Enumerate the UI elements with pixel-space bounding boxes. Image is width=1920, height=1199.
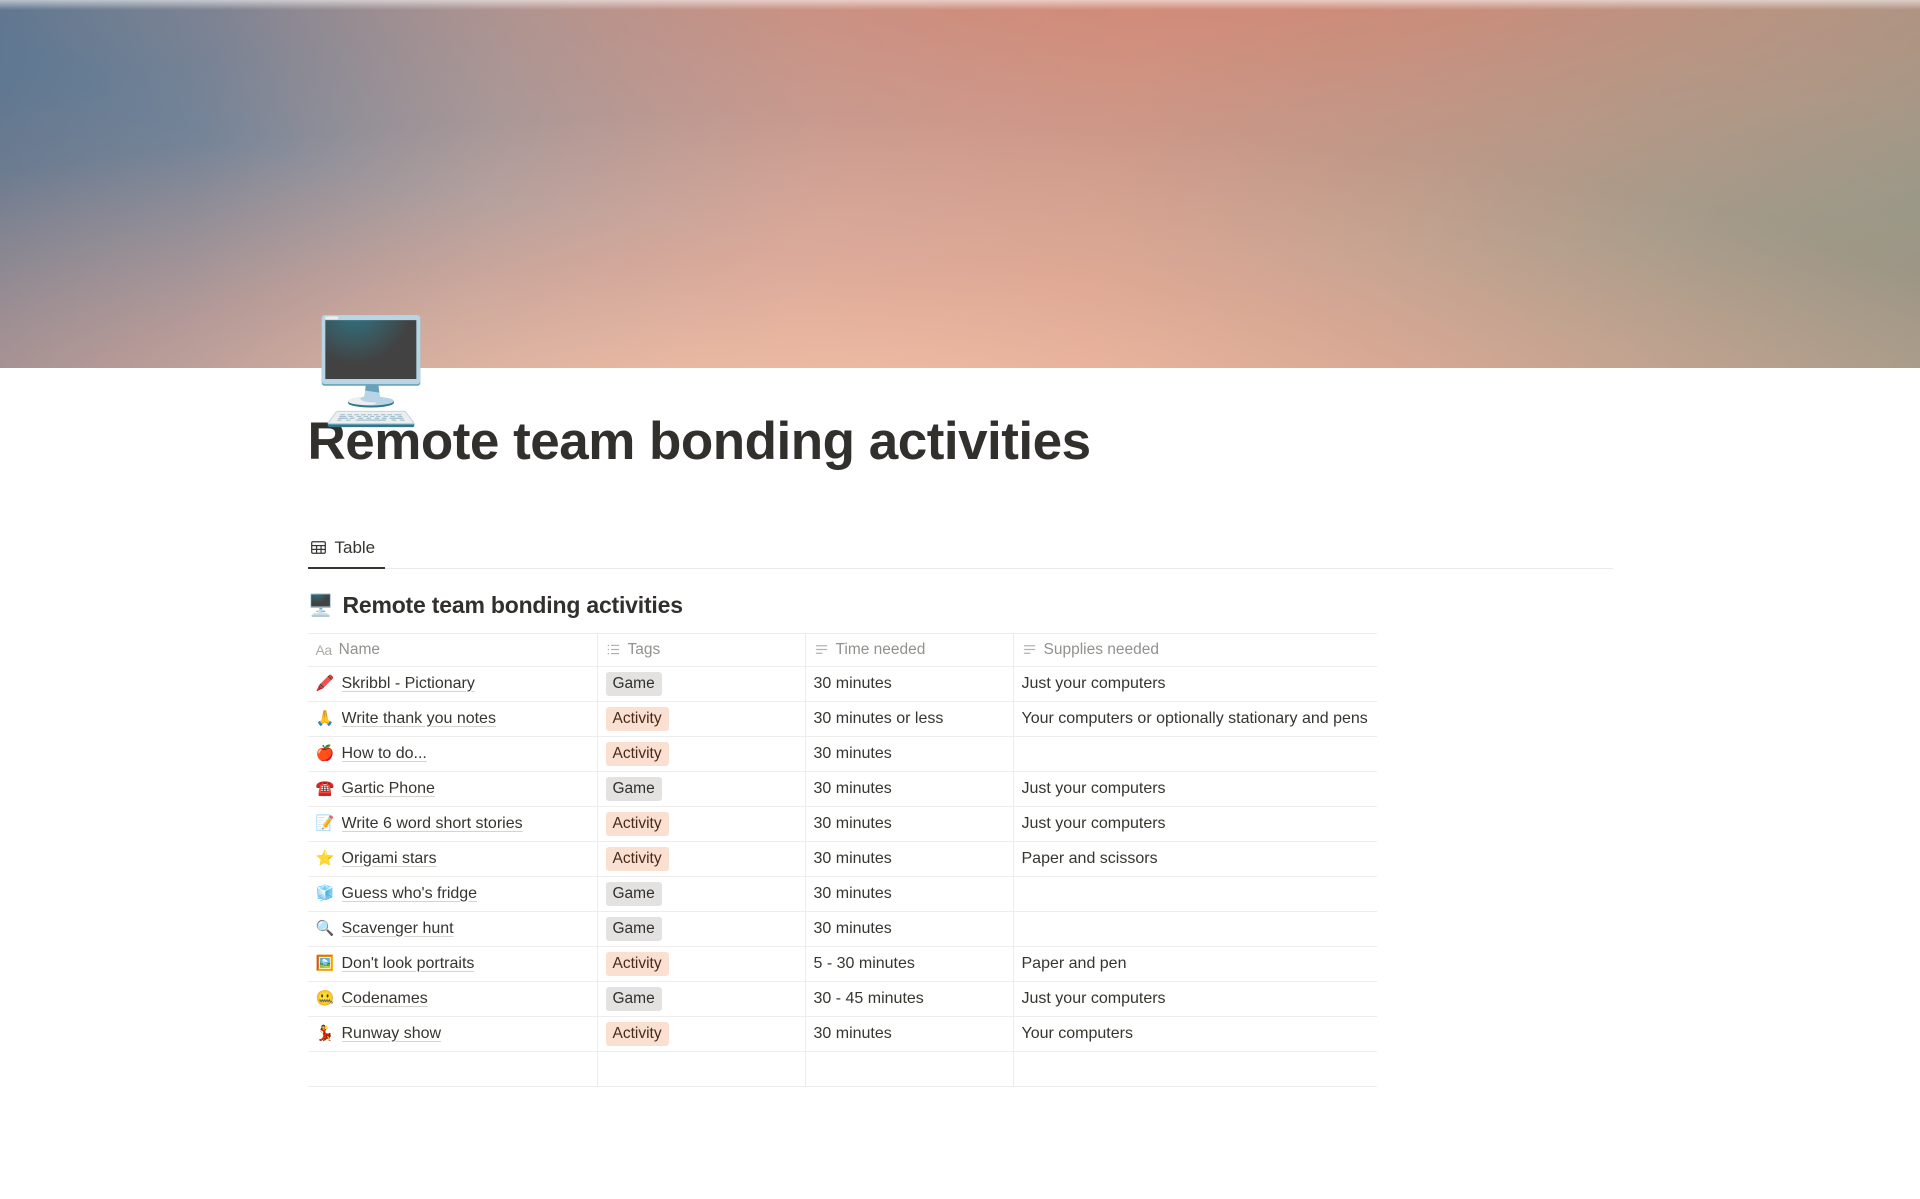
tag-badge: Activity <box>606 812 669 836</box>
desktop-computer-icon: 🖥️ <box>308 595 334 616</box>
cover-top-fade <box>0 0 1920 10</box>
cell-empty[interactable] <box>598 1052 806 1086</box>
cell-tags[interactable]: Game <box>598 982 806 1016</box>
star-emoji: ⭐ <box>316 851 334 866</box>
cell-name[interactable]: 💃Runway show <box>308 1017 598 1051</box>
cell-tags[interactable]: Activity <box>598 842 806 876</box>
table-row[interactable]: 🙏Write thank you notesActivity30 minutes… <box>308 702 1377 737</box>
row-title-link[interactable]: Scavenger hunt <box>342 920 454 938</box>
column-header-supplies-label: Supplies needed <box>1044 641 1160 659</box>
cell-name[interactable]: 🔍Scavenger hunt <box>308 912 598 946</box>
cell-name[interactable]: 🖼️Don't look portraits <box>308 947 598 981</box>
cell-supplies-needed[interactable]: Just your computers <box>1014 667 1377 701</box>
cell-time-needed[interactable]: 30 minutes <box>806 912 1014 946</box>
telephone-emoji: ☎️ <box>316 781 334 796</box>
row-title-link[interactable]: Origami stars <box>342 850 437 868</box>
time-needed-text: 30 minutes <box>814 675 892 693</box>
column-header-time-needed[interactable]: Time needed <box>806 634 1014 666</box>
cell-supplies-needed[interactable]: Your computers or optionally stationary … <box>1014 702 1377 736</box>
cell-tags[interactable]: Game <box>598 877 806 911</box>
cell-tags[interactable]: Activity <box>598 702 806 736</box>
tag-badge: Activity <box>606 952 669 976</box>
row-title-link[interactable]: Guess who's fridge <box>342 885 478 903</box>
row-title-link[interactable]: Runway show <box>342 1025 442 1043</box>
dancer-emoji: 💃 <box>316 1026 334 1041</box>
tag-badge: Game <box>606 987 662 1011</box>
row-title-link[interactable]: Don't look portraits <box>342 955 475 973</box>
supplies-needed-text: Your computers <box>1022 1025 1133 1043</box>
page-cover-image <box>0 0 1920 368</box>
tag-badge: Activity <box>606 847 669 871</box>
cell-time-needed[interactable]: 30 - 45 minutes <box>806 982 1014 1016</box>
cell-supplies-needed[interactable] <box>1014 912 1377 946</box>
time-needed-text: 30 minutes <box>814 745 892 763</box>
text-lines-icon <box>1022 642 1037 657</box>
cell-tags[interactable]: Activity <box>598 1017 806 1051</box>
cell-time-needed[interactable]: 30 minutes or less <box>806 702 1014 736</box>
row-title-link[interactable]: Write thank you notes <box>342 710 496 728</box>
cell-name[interactable]: 🍎How to do... <box>308 737 598 771</box>
tag-badge: Game <box>606 672 662 696</box>
cell-name[interactable]: ☎️Gartic Phone <box>308 772 598 806</box>
cell-supplies-needed[interactable]: Paper and scissors <box>1014 842 1377 876</box>
time-needed-text: 30 minutes or less <box>814 710 944 728</box>
magnifying-glass-emoji: 🔍 <box>316 921 334 936</box>
database-table: Aa Name Tags <box>308 633 1377 1087</box>
cell-supplies-needed[interactable]: Just your computers <box>1014 807 1377 841</box>
red-apple-emoji: 🍎 <box>316 746 334 761</box>
column-header-name[interactable]: Aa Name <box>308 634 598 666</box>
cell-time-needed[interactable]: 5 - 30 minutes <box>806 947 1014 981</box>
row-title-link[interactable]: Gartic Phone <box>342 780 435 798</box>
cell-supplies-needed[interactable]: Just your computers <box>1014 772 1377 806</box>
tag-badge: Game <box>606 917 662 941</box>
tag-badge: Activity <box>606 1022 669 1046</box>
text-lines-icon <box>814 642 829 657</box>
memo-emoji: 📝 <box>316 816 334 831</box>
time-needed-text: 30 minutes <box>814 780 892 798</box>
time-needed-text: 30 minutes <box>814 850 892 868</box>
crayon-emoji: 🖍️ <box>316 676 334 691</box>
text-aa-icon: Aa <box>316 642 332 658</box>
column-header-tags-label: Tags <box>628 641 661 659</box>
table-row[interactable]: 💃Runway showActivity30 minutesYour compu… <box>308 1017 1377 1052</box>
zipper-mouth-face-emoji: 🤐 <box>316 991 334 1006</box>
cell-time-needed[interactable]: 30 minutes <box>806 667 1014 701</box>
column-header-time-label: Time needed <box>836 641 926 659</box>
row-title-link[interactable]: Skribbl - Pictionary <box>342 675 475 693</box>
table-row[interactable]: 🍎How to do...Activity30 minutes <box>308 737 1377 772</box>
tab-table-label: Table <box>335 538 376 558</box>
tag-badge: Game <box>606 777 662 801</box>
cell-name[interactable]: 🖍️Skribbl - Pictionary <box>308 667 598 701</box>
multi-select-icon <box>606 642 621 657</box>
cell-name[interactable]: 🙏Write thank you notes <box>308 702 598 736</box>
supplies-needed-text: Your computers or optionally stationary … <box>1022 710 1368 728</box>
supplies-needed-text: Just your computers <box>1022 780 1166 798</box>
folded-hands-emoji: 🙏 <box>316 711 334 726</box>
table-row[interactable]: 📝Write 6 word short storiesActivity30 mi… <box>308 807 1377 842</box>
table-row-partial[interactable] <box>308 1052 1377 1087</box>
time-needed-text: 30 - 45 minutes <box>814 990 924 1008</box>
database-title[interactable]: 🖥️ Remote team bonding activities <box>308 592 1613 619</box>
cell-tags[interactable]: Activity <box>598 947 806 981</box>
table-body: 🖍️Skribbl - PictionaryGame30 minutesJust… <box>308 667 1377 1087</box>
supplies-needed-text: Just your computers <box>1022 815 1166 833</box>
table-row[interactable]: 🖼️Don't look portraitsActivity5 - 30 min… <box>308 947 1377 982</box>
table-row[interactable]: ☎️Gartic PhoneGame30 minutesJust your co… <box>308 772 1377 807</box>
tag-badge: Activity <box>606 707 669 731</box>
table-row[interactable]: 🔍Scavenger huntGame30 minutes <box>308 912 1377 947</box>
page-icon-emoji[interactable]: 🖥️ <box>308 310 432 434</box>
table-header-row: Aa Name Tags <box>308 634 1377 667</box>
ice-cube-emoji: 🧊 <box>316 886 334 901</box>
cell-name[interactable]: 🧊Guess who's fridge <box>308 877 598 911</box>
cell-supplies-needed[interactable] <box>1014 877 1377 911</box>
tab-table[interactable]: Table <box>308 528 386 568</box>
page-body: 🖥️ Remote team bonding activities Table <box>0 414 1920 1087</box>
cell-empty[interactable] <box>308 1052 598 1086</box>
row-title-link[interactable]: Codenames <box>342 990 428 1008</box>
cell-tags[interactable]: Activity <box>598 807 806 841</box>
cell-tags[interactable]: Game <box>598 667 806 701</box>
time-needed-text: 30 minutes <box>814 920 892 938</box>
cell-time-needed[interactable]: 30 minutes <box>806 877 1014 911</box>
cell-supplies-needed[interactable]: Paper and pen <box>1014 947 1377 981</box>
column-header-supplies-needed[interactable]: Supplies needed <box>1014 634 1377 666</box>
view-tab-bar: Table <box>308 528 1613 569</box>
tag-badge: Activity <box>606 742 669 766</box>
cell-name[interactable]: 📝Write 6 word short stories <box>308 807 598 841</box>
row-title-link[interactable]: Write 6 word short stories <box>342 815 523 833</box>
cell-time-needed[interactable]: 30 minutes <box>806 737 1014 771</box>
cell-name[interactable]: 🤐Codenames <box>308 982 598 1016</box>
supplies-needed-text: Just your computers <box>1022 675 1166 693</box>
supplies-needed-text: Paper and pen <box>1022 955 1127 973</box>
cell-tags[interactable]: Game <box>598 772 806 806</box>
cell-supplies-needed[interactable] <box>1014 737 1377 771</box>
cell-tags[interactable]: Activity <box>598 737 806 771</box>
framed-picture-emoji: 🖼️ <box>316 956 334 971</box>
cell-supplies-needed[interactable]: Just your computers <box>1014 982 1377 1016</box>
cell-time-needed[interactable]: 30 minutes <box>806 807 1014 841</box>
supplies-needed-text: Just your computers <box>1022 990 1166 1008</box>
table-row[interactable]: 🤐CodenamesGame30 - 45 minutesJust your c… <box>308 982 1377 1017</box>
column-header-name-label: Name <box>339 641 380 659</box>
cell-time-needed[interactable]: 30 minutes <box>806 842 1014 876</box>
column-header-tags[interactable]: Tags <box>598 634 806 666</box>
cell-empty[interactable] <box>1014 1052 1377 1086</box>
tag-badge: Game <box>606 882 662 906</box>
row-title-link[interactable]: How to do... <box>342 745 427 763</box>
cell-time-needed[interactable]: 30 minutes <box>806 772 1014 806</box>
cell-name[interactable]: ⭐Origami stars <box>308 842 598 876</box>
time-needed-text: 30 minutes <box>814 815 892 833</box>
time-needed-text: 30 minutes <box>814 885 892 903</box>
table-icon <box>310 539 327 556</box>
database-title-text: Remote team bonding activities <box>342 592 682 619</box>
time-needed-text: 30 minutes <box>814 1025 892 1043</box>
time-needed-text: 5 - 30 minutes <box>814 955 915 973</box>
cell-tags[interactable]: Game <box>598 912 806 946</box>
cell-empty[interactable] <box>806 1052 1014 1086</box>
table-row[interactable]: 🖍️Skribbl - PictionaryGame30 minutesJust… <box>308 667 1377 702</box>
table-row[interactable]: ⭐Origami starsActivity30 minutesPaper an… <box>308 842 1377 877</box>
page-title[interactable]: Remote team bonding activities <box>308 414 1613 470</box>
table-row[interactable]: 🧊Guess who's fridgeGame30 minutes <box>308 877 1377 912</box>
supplies-needed-text: Paper and scissors <box>1022 850 1158 868</box>
cell-time-needed[interactable]: 30 minutes <box>806 1017 1014 1051</box>
cell-supplies-needed[interactable]: Your computers <box>1014 1017 1377 1051</box>
